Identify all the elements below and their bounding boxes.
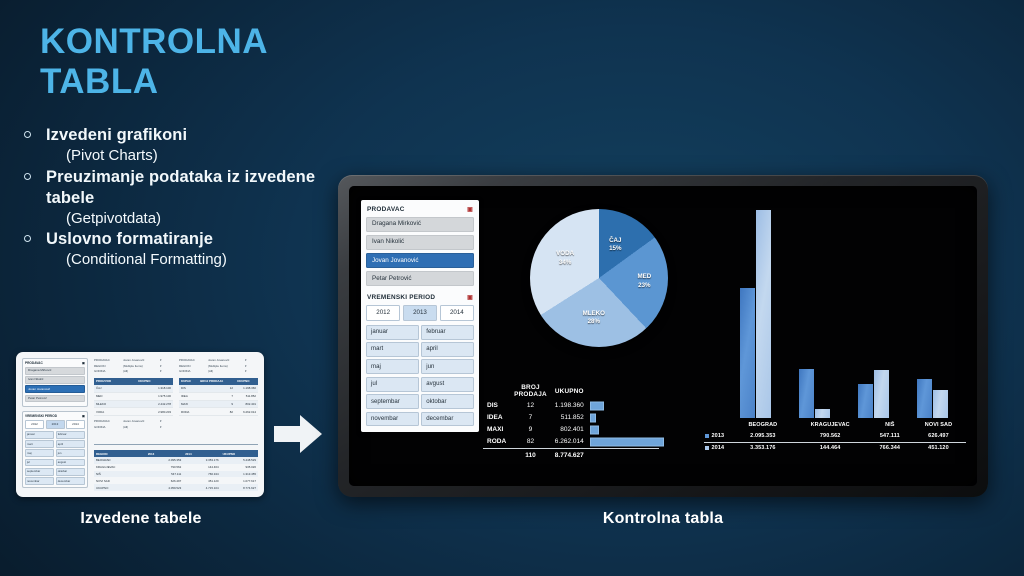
arrow-right-icon — [272, 412, 324, 456]
bullet-sub-text: (Getpivotdata) — [46, 209, 340, 229]
bar-group-beograd — [740, 210, 771, 418]
table-row: NOVI SAD626.497451.1201.077.617 — [94, 477, 258, 484]
table-row: BEOGRAD2.095.3533.353.1765.448.529 — [94, 457, 258, 464]
thumb-filter-value: (Multiple Items) — [208, 364, 242, 368]
thumb-col-header: UKUPNO — [136, 378, 173, 385]
bar-category-kragujevac: KRAGUJEVAC — [792, 420, 869, 431]
clear-filter-icon[interactable]: ▣ — [467, 294, 473, 301]
month-option-februar[interactable]: februar — [421, 325, 474, 340]
legend-label-2013: 2013 — [712, 433, 725, 439]
bullet-sub-text: (Pivot Charts) — [46, 146, 340, 166]
thumb-slicer-column: PRODAVAC ▣ Dragana Mirković Ivan Nikolić… — [22, 358, 88, 491]
thumb-filters-right: PRODAVACJovan Jovanović▾ REGION(Multiple… — [179, 358, 258, 375]
year-option-2014[interactable]: 2014 — [440, 305, 474, 320]
thumb-filter-field: REGION — [179, 364, 205, 368]
month-option-jun[interactable]: jun — [421, 359, 474, 374]
thumb-tables-row: PROIZVOD UKUPNO ČAJ1.318.100 MED1.975.10… — [94, 378, 258, 416]
slicer-item-jovan-jovanovic[interactable]: Jovan Jovanović — [366, 253, 474, 268]
chevron-down-icon: ▾ — [160, 369, 161, 373]
bar-group-novi-sad — [917, 379, 948, 418]
thumb-slicer-option: Petar Petrović — [25, 395, 85, 403]
thumb-month: februar — [56, 431, 85, 439]
thumb-slicer-option: Ivan Nikolić — [25, 376, 85, 384]
month-option-septembar[interactable]: septembar — [366, 394, 419, 409]
thumb-cell: RODA — [179, 408, 198, 416]
bar-category-beograd: BEOGRAD — [734, 420, 792, 431]
clear-filter-icon: ▣ — [82, 414, 85, 418]
thumb-cell: 9 — [198, 400, 235, 408]
thumb-cell: 766.344 — [183, 471, 220, 478]
table-row-total: UKUPNO4.059.5234.715.1048.774.627 — [94, 484, 258, 491]
monitor-frame: PRODAVAC ▣ Dragana Mirković Ivan Nikolić… — [338, 175, 988, 497]
thumb-filter-value: (All) — [123, 425, 157, 429]
thumb-cell: 4.715.104 — [183, 484, 220, 491]
table-row: RODA826.262.014 — [179, 408, 258, 416]
bar-2013-niš — [858, 384, 873, 418]
slicer-period-header: VREMENSKI PERIOD ▣ — [366, 292, 474, 305]
thumb-slicer-header: PRODAVAC ▣ — [25, 361, 85, 365]
page-title-line2: TABLA — [40, 62, 340, 102]
cell-databar — [588, 424, 659, 436]
row-label-dis: DIS — [483, 400, 510, 412]
caption-izvedene-tabele: Izvedene tabele — [16, 510, 266, 528]
thumb-filter-value: (Multiple Items) — [123, 364, 157, 368]
year-slicer-row: 2012 2013 2014 — [366, 305, 474, 320]
legend-swatch-2013 — [705, 434, 709, 438]
cell-databar — [588, 412, 659, 424]
cell-count: 7 — [510, 412, 551, 424]
thumb-month: april — [56, 440, 85, 448]
slicer-period-title: VREMENSKI PERIOD — [367, 294, 435, 301]
thumb-cell: KRAGUJEVAC — [94, 464, 146, 471]
bar-value-2013-novi-sad: 626.497 — [911, 431, 966, 442]
pie-label-caj: ČAJ15% — [593, 237, 637, 254]
bullet-main-text: Izvedeni grafikoni — [46, 125, 340, 146]
bar-group-kragujevac — [799, 369, 830, 418]
thumb-filter-value: Jovan Jovanović — [123, 419, 157, 423]
thumb-col-header: UKUPNO — [221, 450, 258, 457]
thumb-table-proizvod: PROIZVOD UKUPNO ČAJ1.318.100 MED1.975.10… — [94, 378, 173, 416]
total-sum: 8.774.627 — [551, 449, 588, 462]
thumb-table-region: REGION 2013 2014 UKUPNO BEOGRAD2.095.353… — [94, 450, 258, 491]
thumb-cell: 790.562 — [146, 464, 183, 471]
col-header-ukupno: UKUPNO — [551, 382, 588, 400]
caption-kontrolna-tabla: Kontrolna tabla — [338, 510, 988, 528]
thumb-cell: 1.077.617 — [221, 477, 258, 484]
thumb-cell: 5.448.529 — [221, 457, 258, 464]
slicer-item-ivan-nikolic[interactable]: Ivan Nikolić — [366, 235, 474, 250]
title-block: KONTROLNA TABLA — [40, 22, 340, 101]
thumb-slicer-header: VREMENSKI PERIOD ▣ — [25, 414, 85, 418]
thumb-cell: 2.442.278 — [136, 400, 173, 408]
thumb-cell: NOVI SAD — [94, 477, 146, 484]
chevron-down-icon: ▾ — [245, 369, 246, 373]
thumb-cell: 547.111 — [146, 471, 183, 478]
thumb-filter-field: PRODAVAC — [94, 358, 120, 362]
chevron-down-icon: ▾ — [245, 358, 246, 362]
thumb-filter-field: GODINA — [94, 369, 120, 373]
bar-series-row-2013: 2013 2.095.353 790.562 547.111 626.497 — [704, 431, 966, 442]
pivot-tables-thumbnail: PRODAVAC ▣ Dragana Mirković Ivan Nikolić… — [16, 352, 264, 497]
bar-value-2013-nis: 547.111 — [869, 431, 911, 442]
page-title-line1: KONTROLNA — [40, 22, 340, 62]
thumb-month: jul — [25, 459, 54, 467]
thumb-cell: 144.464 — [183, 464, 220, 471]
thumb-pivot-area: PRODAVACJovan Jovanović▾ REGION(Multiple… — [94, 358, 258, 491]
bullet-circle-icon — [24, 173, 31, 180]
thumb-month: mart — [25, 440, 54, 448]
cell-count: 12 — [510, 400, 551, 412]
thumb-cell: 2.095.353 — [146, 457, 183, 464]
legend-blank — [704, 420, 734, 431]
bullet-circle-icon — [24, 235, 31, 242]
thumb-cell: 2.980.203 — [136, 408, 173, 416]
table-row: MED1.975.100 — [94, 392, 173, 400]
table-row: DIS 12 1.198.360 — [483, 400, 659, 412]
col-header-databar — [588, 382, 659, 400]
month-option-mart[interactable]: mart — [366, 342, 419, 357]
bar-2014-novi-sad — [933, 390, 948, 418]
thumb-filters-bottom: PRODAVACJovan Jovanović▾ GODINA(All)▾ — [94, 419, 258, 440]
month-option-oktobar[interactable]: oktobar — [421, 394, 474, 409]
dashboard-screen: PRODAVAC ▣ Dragana Mirković Ivan Nikolić… — [349, 186, 977, 486]
row-label-roda: RODA — [483, 436, 510, 449]
bar-2013-kragujevac — [799, 369, 814, 418]
bullet-sub-text: (Conditional Formatting) — [46, 250, 340, 270]
table-row: ČAJ1.318.100 — [94, 385, 173, 392]
month-option-avgust[interactable]: avgust — [421, 377, 474, 392]
thumb-cell: 82 — [198, 408, 235, 416]
cell-total: 802.401 — [551, 424, 588, 436]
thumb-divider — [94, 444, 258, 445]
thumb-filters-left: PRODAVACJovan Jovanović▾ REGION(Multiple… — [94, 358, 173, 375]
bar-2014-kragujevac — [815, 409, 830, 418]
table-row: MAXI9802.401 — [179, 400, 258, 408]
total-databar-blank — [588, 449, 659, 462]
thumb-cell: 451.120 — [183, 477, 220, 484]
thumb-filter-value: Jovan Jovanović — [208, 358, 242, 362]
thumb-month: septembar — [25, 468, 54, 476]
table-row: DIS121.198.360 — [179, 385, 258, 392]
thumb-cell: IDEA — [179, 392, 198, 400]
table-row: MAXI 9 802.401 — [483, 424, 659, 436]
chevron-down-icon: ▾ — [160, 425, 161, 429]
thumb-slicer-option: Dragana Mirković — [25, 367, 85, 375]
bar-value-2014-beograd: 3.353.176 — [734, 442, 792, 453]
cell-count: 82 — [510, 436, 551, 449]
thumb-filter-row: PRODAVACJovan Jovanović▾ REGION(Multiple… — [94, 358, 258, 375]
table-header-row: BROJ PRODAJA UKUPNO — [483, 382, 659, 400]
thumb-month: avgust — [56, 459, 85, 467]
thumb-col-header: 2014 — [183, 450, 220, 457]
thumb-cell: 7 — [198, 392, 235, 400]
thumb-cell: 8.774.627 — [221, 484, 258, 491]
thumb-slicer-title: PRODAVAC — [25, 361, 43, 365]
bullet-item-0: Izvedeni grafikoni (Pivot Charts) — [20, 125, 340, 166]
thumb-cell: 4.059.523 — [146, 484, 183, 491]
thumb-cell: NIŠ — [94, 471, 146, 478]
thumb-cell: 6.262.014 — [235, 408, 258, 416]
pie-label-voda: VODA34% — [543, 250, 587, 267]
thumb-filter-field: GODINA — [179, 369, 205, 373]
thumb-col-header: PROIZVOD — [94, 378, 136, 385]
thumb-cell: 1.318.100 — [136, 385, 173, 392]
thumb-year: 2012 — [25, 420, 44, 429]
total-label — [483, 449, 510, 462]
bar-group-niš — [858, 370, 889, 418]
thumb-cell: 12 — [198, 385, 235, 392]
sales-pivot-table[interactable]: BROJ PRODAJA UKUPNO DIS 12 1.198.360 IDE… — [483, 382, 701, 462]
thumb-slicer-period: VREMENSKI PERIOD ▣ 2012 2013 2014 januar… — [22, 411, 88, 488]
thumb-cell: MLEKO — [94, 400, 136, 408]
thumb-filter-field: PRODAVAC — [94, 419, 120, 423]
month-option-jul[interactable]: jul — [366, 377, 419, 392]
bullet-main-text: Preuzimanje podataka iz izvedene tabele — [46, 167, 340, 209]
slicer-item-dragana-mirkovic[interactable]: Dragana Mirković — [366, 217, 474, 232]
row-label-idea: IDEA — [483, 412, 510, 424]
bar-category-nis: NIŠ — [869, 420, 911, 431]
table-row: IDEA 7 511.852 — [483, 412, 659, 424]
thumb-year-row: 2012 2013 2014 — [25, 420, 85, 429]
thumb-col-header: 2013 — [146, 450, 183, 457]
thumb-col-header: BROJ PRODAJA — [198, 378, 235, 385]
bullet-main-text: Uslovno formatiranje — [46, 229, 340, 250]
bullet-item-1: Preuzimanje podataka iz izvedene tabele … — [20, 167, 340, 229]
year-option-2012[interactable]: 2012 — [366, 305, 400, 320]
thumb-cell: 511.852 — [235, 392, 258, 400]
thumb-col-header: REGION — [94, 450, 146, 457]
bar-2013-beograd — [740, 288, 755, 418]
legend-entry-2013: 2013 — [704, 431, 734, 442]
thumb-cell: UKUPNO — [94, 484, 146, 491]
thumb-month: oktobar — [56, 468, 85, 476]
table-row: IDEA7511.852 — [179, 392, 258, 400]
row-label-maxi: MAXI — [483, 424, 510, 436]
thumb-slicer-option-selected: Jovan Jovanović — [25, 385, 85, 393]
bar-2013-novi-sad — [917, 379, 932, 418]
thumb-month: novembar — [25, 477, 54, 485]
chevron-down-icon: ▾ — [245, 364, 246, 368]
thumb-cell: 626.497 — [146, 477, 183, 484]
thumb-col-header: UKUPNO — [235, 378, 258, 385]
month-option-januar[interactable]: januar — [366, 325, 419, 340]
thumb-slicer-title: VREMENSKI PERIOD — [25, 414, 57, 418]
bar-category-novi-sad: NOVI SAD — [911, 420, 966, 431]
thumb-year: 2014 — [66, 420, 85, 429]
thumb-cell: 1.313.455 — [221, 471, 258, 478]
clear-filter-icon: ▣ — [82, 361, 85, 365]
region-bar-chart[interactable]: BEOGRAD KRAGUJEVAC NIŠ NOVI SAD 2013 2.0… — [704, 206, 966, 478]
thumb-month: januar — [25, 431, 54, 439]
total-count: 110 — [510, 449, 551, 462]
bullet-item-2: Uslovno formatiranje (Conditional Format… — [20, 229, 340, 270]
pie-chart[interactable]: ČAJ15% MED23% MLEKO28% VODA34% — [504, 204, 694, 354]
month-option-novembar[interactable]: novembar — [366, 412, 419, 427]
thumb-cell: 1.975.100 — [136, 392, 173, 400]
thumb-filter-field: GODINA — [94, 425, 120, 429]
thumb-cell: BEOGRAD — [94, 457, 146, 464]
bar-2014-niš — [874, 370, 889, 418]
thumb-filter-value: (All) — [123, 369, 157, 373]
bar-value-2014-novi-sad: 451.120 — [911, 442, 966, 453]
thumb-month: maj — [25, 449, 54, 457]
table-row: RODA 82 6.262.014 — [483, 436, 659, 449]
bullet-circle-icon — [24, 131, 31, 138]
cell-databar — [588, 400, 659, 412]
cell-total: 1.198.360 — [551, 400, 588, 412]
slicer-item-petar-petrovic[interactable]: Petar Petrović — [366, 271, 474, 286]
month-option-maj[interactable]: maj — [366, 359, 419, 374]
thumb-month-grid: januar februar mart april maj jun jul av… — [25, 431, 85, 485]
thumb-col-header: KUPAC — [179, 378, 198, 385]
month-slicer-grid: januar februar mart april maj jun jul av… — [366, 325, 474, 427]
thumb-table-kupac: KUPAC BROJ PRODAJA UKUPNO DIS121.198.360… — [179, 378, 258, 416]
slicer-prodavac-title: PRODAVAC — [367, 206, 405, 213]
table-row: VODA2.980.203 — [94, 408, 173, 416]
bar-value-2013-kragujevac: 790.562 — [792, 431, 869, 442]
thumb-cell: 935.026 — [221, 464, 258, 471]
databar-fill — [590, 438, 664, 447]
databar-fill — [590, 402, 604, 411]
legend-entry-2014: 2014 — [704, 442, 734, 453]
bar-chart-plot — [726, 206, 962, 418]
thumb-cell: MED — [94, 392, 136, 400]
col-header-broj-prodaja: BROJ PRODAJA — [510, 382, 551, 400]
legend-label-2014: 2014 — [712, 445, 725, 451]
table-row-total: 110 8.774.627 — [483, 449, 659, 462]
pie-label-mleko: MLEKO28% — [572, 310, 616, 327]
cell-count: 9 — [510, 424, 551, 436]
thumb-cell: ČAJ — [94, 385, 136, 392]
clear-filter-icon[interactable]: ▣ — [467, 206, 473, 213]
table-row: NIŠ547.111766.3441.313.455 — [94, 471, 258, 478]
databar-fill — [590, 426, 600, 435]
thumb-filter-field: REGION — [94, 364, 120, 368]
thumb-filter-value: (All) — [208, 369, 242, 373]
slicer-panel: PRODAVAC ▣ Dragana Mirković Ivan Nikolić… — [361, 200, 479, 432]
table-row: KRAGUJEVAC790.562144.464935.026 — [94, 464, 258, 471]
thumb-cell: 1.198.360 — [235, 385, 258, 392]
bar-series-row-2014: 2014 3.353.176 144.464 766.344 451.120 — [704, 442, 966, 453]
thumb-slicer-prodavac: PRODAVAC ▣ Dragana Mirković Ivan Nikolić… — [22, 358, 88, 407]
thumb-month: jun — [56, 449, 85, 457]
thumb-year-selected: 2013 — [46, 420, 65, 429]
cell-total: 6.262.014 — [551, 436, 588, 449]
page-title: KONTROLNA TABLA — [40, 22, 340, 101]
month-option-april[interactable]: april — [421, 342, 474, 357]
thumb-cell: DIS — [179, 385, 198, 392]
bullet-list: Izvedeni grafikoni (Pivot Charts) Preuzi… — [20, 125, 340, 271]
bar-chart-data-table: BEOGRAD KRAGUJEVAC NIŠ NOVI SAD 2013 2.0… — [704, 420, 966, 453]
pie-label-med: MED23% — [622, 273, 666, 290]
col-header-blank — [483, 382, 510, 400]
bar-value-2014-nis: 766.344 — [869, 442, 911, 453]
thumb-filter-value: Jovan Jovanović — [123, 358, 157, 362]
bar-2014-beograd — [756, 210, 771, 418]
thumb-cell: VODA — [94, 408, 136, 416]
table-row: MLEKO2.442.278 — [94, 400, 173, 408]
thumb-filter-field: PRODAVAC — [179, 358, 205, 362]
cell-total: 511.852 — [551, 412, 588, 424]
chevron-down-icon: ▾ — [160, 419, 161, 423]
month-option-decembar[interactable]: decembar — [421, 412, 474, 427]
thumb-cell: MAXI — [179, 400, 198, 408]
chevron-down-icon: ▾ — [160, 364, 161, 368]
thumb-cell: 3.353.176 — [183, 457, 220, 464]
chevron-down-icon: ▾ — [160, 358, 161, 362]
year-option-2013[interactable]: 2013 — [403, 305, 437, 320]
thumb-month: decembar — [56, 477, 85, 485]
bar-value-2014-kragujevac: 144.464 — [792, 442, 869, 453]
legend-swatch-2014 — [705, 446, 709, 450]
cell-databar — [588, 436, 659, 449]
bar-category-row: BEOGRAD KRAGUJEVAC NIŠ NOVI SAD — [704, 420, 966, 431]
thumb-cell: 802.401 — [235, 400, 258, 408]
bar-value-2013-beograd: 2.095.353 — [734, 431, 792, 442]
databar-fill — [590, 414, 596, 423]
slicer-prodavac-header: PRODAVAC ▣ — [366, 204, 474, 217]
